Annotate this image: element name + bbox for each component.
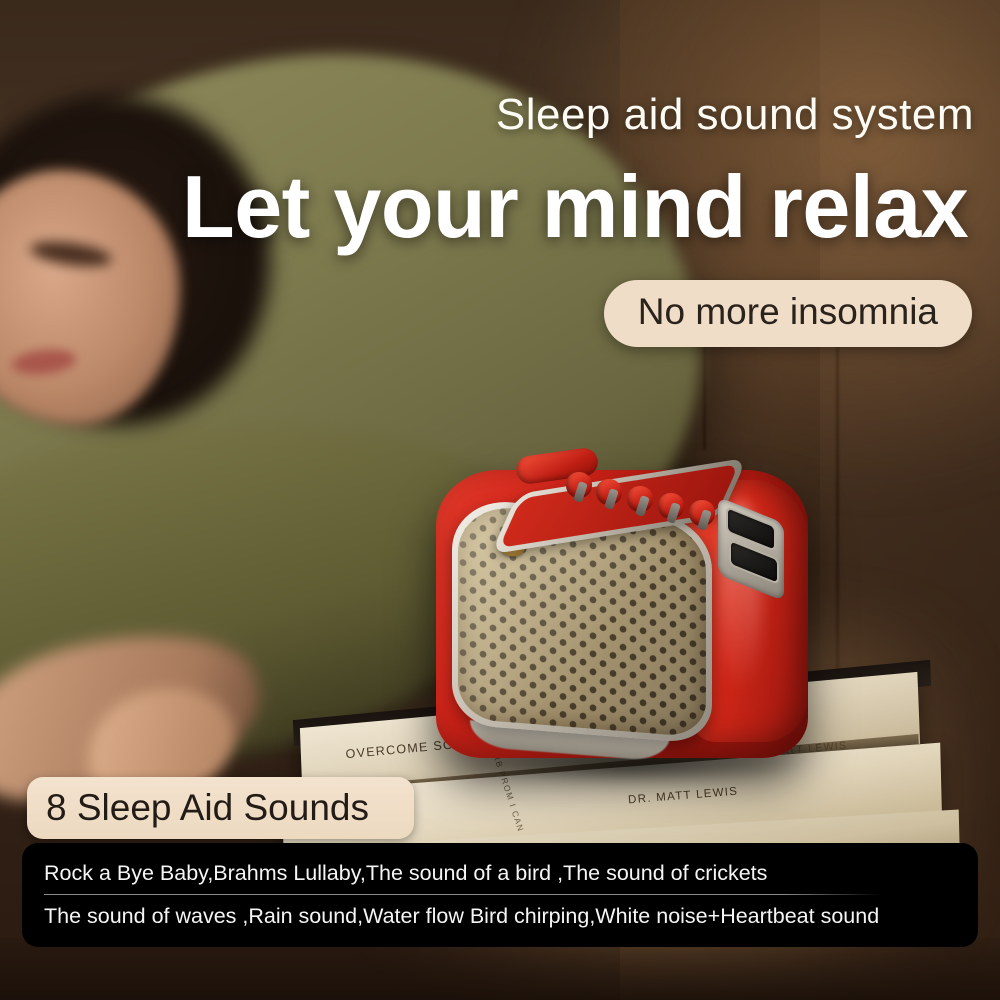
insomnia-badge: No more insomnia: [604, 280, 972, 347]
bluetooth-speaker-product: [418, 452, 826, 772]
sound-count-header-label: 8 Sleep Aid Sounds: [46, 787, 369, 829]
subtitle: Sleep aid sound system: [496, 90, 974, 140]
sound-list-line-2: The sound of waves ,Rain sound,Water flo…: [44, 902, 956, 931]
sound-list-panel: Rock a Bye Baby,Brahms Lullaby,The sound…: [22, 843, 978, 947]
sound-list-separator: [44, 894, 883, 895]
sound-list-line-1: Rock a Bye Baby,Brahms Lullaby,The sound…: [44, 859, 956, 888]
bottom-vignette: [0, 938, 1000, 1000]
page-title: Let your mind relax: [182, 163, 968, 251]
product-advertisement: OVERCOME SOCIAL ANXIETY AND SHYNESS DR. …: [0, 0, 1000, 1000]
sound-count-header: 8 Sleep Aid Sounds: [27, 777, 414, 839]
